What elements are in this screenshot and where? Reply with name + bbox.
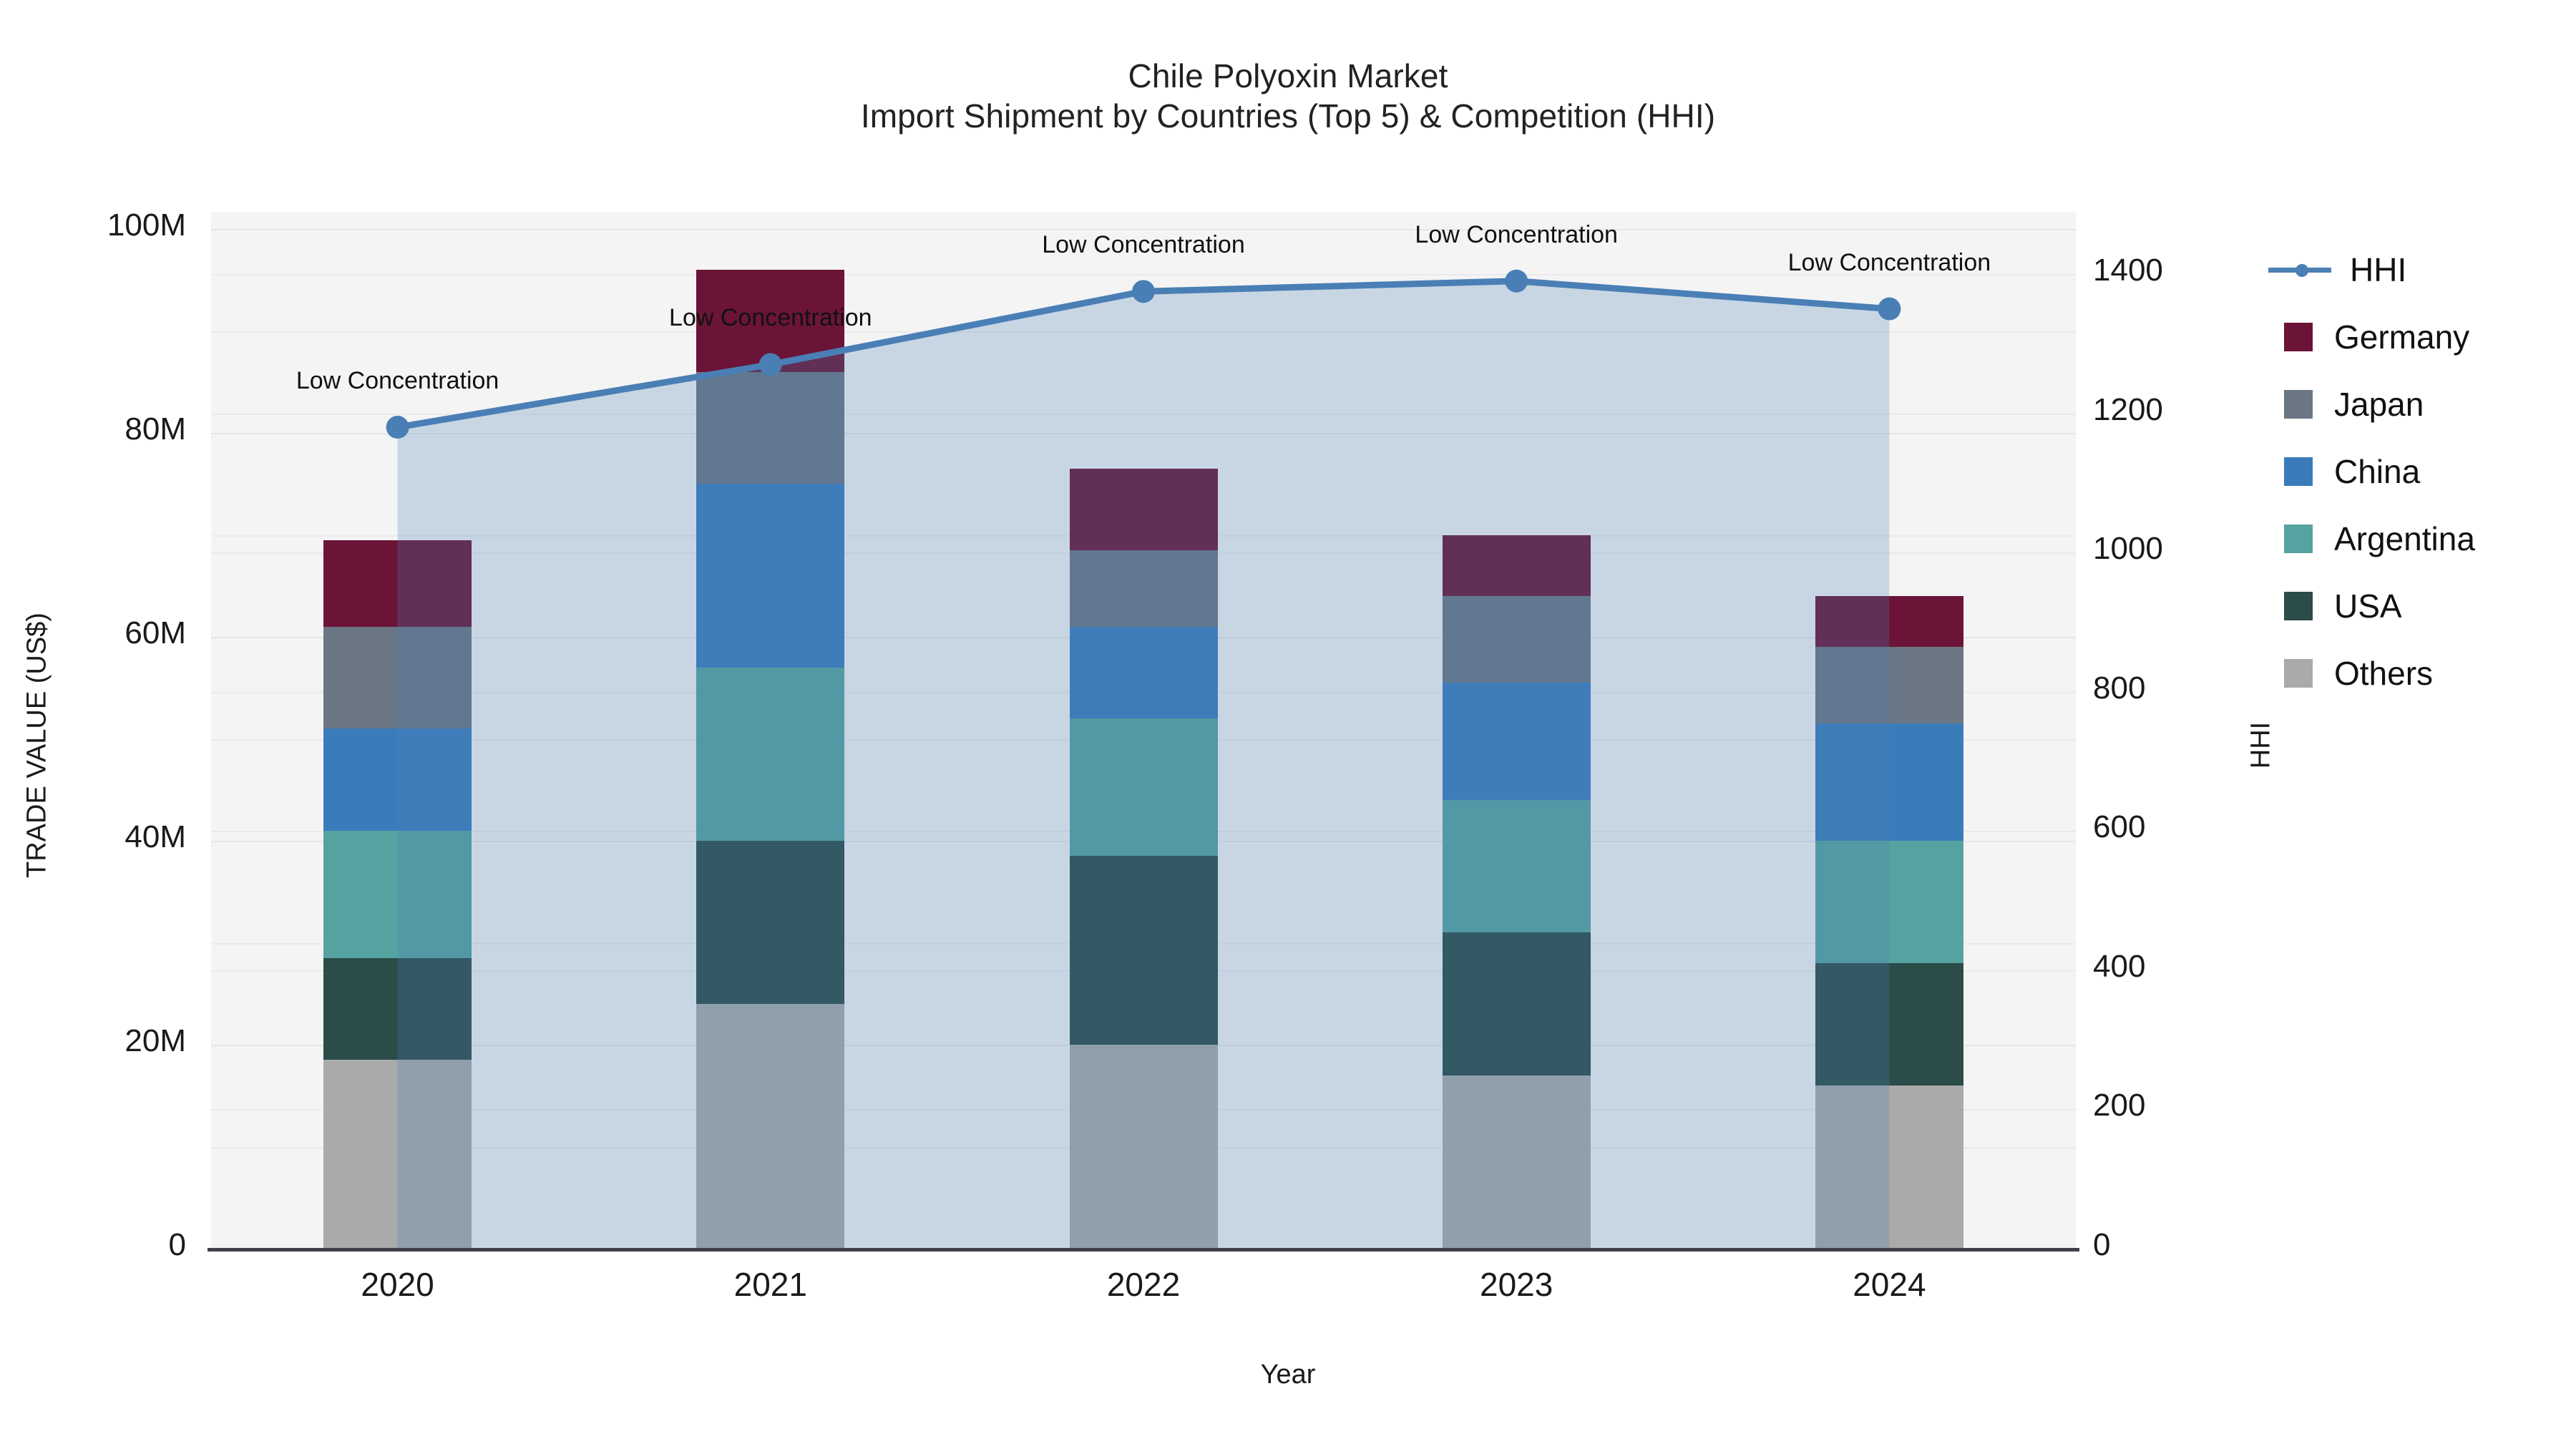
annotation-low-concentration-2023: Low Concentration — [1415, 221, 1618, 249]
y-axis-left-title: TRADE VALUE (US$) — [22, 545, 53, 946]
bar-segment-china-2024[interactable] — [1815, 723, 1963, 841]
bar-segment-japan-2022[interactable] — [1070, 550, 1218, 627]
x-tick-2022: 2022 — [1036, 1265, 1251, 1304]
legend-item-usa[interactable]: USA — [2268, 572, 2569, 640]
chart-title: Chile Polyoxin Market Import Shipment by… — [0, 56, 2576, 136]
legend-label-usa: USA — [2334, 587, 2402, 625]
bar-segment-others-2024[interactable] — [1815, 1085, 1963, 1249]
y-tick-right-0: 0 — [2093, 1227, 2279, 1263]
bar-segment-china-2023[interactable] — [1443, 683, 1591, 800]
legend-line-icon — [2268, 255, 2331, 284]
bar-segment-japan-2020[interactable] — [323, 627, 472, 729]
bar-segment-others-2023[interactable] — [1443, 1075, 1591, 1249]
y-tick-right-1200: 1200 — [2093, 392, 2279, 428]
bar-segment-argentina-2024[interactable] — [1815, 841, 1963, 963]
bar-segment-china-2021[interactable] — [696, 484, 844, 668]
y-tick-right-400: 400 — [2093, 949, 2279, 985]
legend-item-germany[interactable]: Germany — [2268, 303, 2569, 371]
chart-root: Chile Polyoxin Market Import Shipment by… — [0, 0, 2576, 1449]
bar-segment-germany-2022[interactable] — [1070, 469, 1218, 550]
y-tick-left-20M: 20M — [29, 1023, 186, 1059]
bar-segment-others-2022[interactable] — [1070, 1045, 1218, 1249]
bar-segment-china-2022[interactable] — [1070, 627, 1218, 718]
bar-segment-argentina-2020[interactable] — [323, 831, 472, 958]
y-tick-left-100M: 100M — [29, 208, 186, 243]
y-tick-left-0: 0 — [29, 1227, 186, 1263]
legend-label-argentina: Argentina — [2334, 519, 2475, 558]
y-tick-right-1000: 1000 — [2093, 531, 2279, 567]
legend-item-hhi[interactable]: HHI — [2268, 236, 2569, 303]
legend-swatch-usa — [2284, 592, 2313, 620]
bar-segment-others-2021[interactable] — [696, 1004, 844, 1249]
legend-label-germany: Germany — [2334, 318, 2469, 356]
bar-segment-argentina-2022[interactable] — [1070, 718, 1218, 856]
legend-item-japan[interactable]: Japan — [2268, 371, 2569, 438]
y-tick-right-200: 200 — [2093, 1088, 2279, 1123]
x-tick-2020: 2020 — [291, 1265, 505, 1304]
annotation-low-concentration-2024: Low Concentration — [1788, 249, 1991, 277]
annotation-low-concentration-2021: Low Concentration — [669, 304, 872, 332]
bar-segment-japan-2023[interactable] — [1443, 596, 1591, 683]
legend-swatch-others — [2284, 659, 2313, 688]
x-tick-2021: 2021 — [663, 1265, 878, 1304]
bar-segment-others-2020[interactable] — [323, 1060, 472, 1249]
legend-label-japan: Japan — [2334, 385, 2424, 424]
x-axis-line — [208, 1248, 2079, 1252]
annotation-low-concentration-2022: Low Concentration — [1042, 231, 1245, 259]
bar-segment-japan-2024[interactable] — [1815, 647, 1963, 723]
legend-swatch-argentina — [2284, 525, 2313, 553]
legend-item-china[interactable]: China — [2268, 438, 2569, 505]
bar-segment-japan-2021[interactable] — [696, 372, 844, 484]
bar-segment-usa-2020[interactable] — [323, 958, 472, 1060]
legend-label-china: China — [2334, 452, 2420, 491]
bar-segment-china-2020[interactable] — [323, 728, 472, 831]
bar-segment-germany-2023[interactable] — [1443, 535, 1591, 597]
grid-line — [211, 433, 2076, 434]
bar-segment-usa-2022[interactable] — [1070, 856, 1218, 1045]
grid-line-secondary — [211, 414, 2076, 415]
y-tick-left-80M: 80M — [29, 411, 186, 447]
title-line-2: Import Shipment by Countries (Top 5) & C… — [0, 96, 2576, 136]
title-line-1: Chile Polyoxin Market — [0, 56, 2576, 96]
grid-line — [211, 229, 2076, 230]
legend: HHIGermanyJapanChinaArgentinaUSAOthers — [2268, 236, 2569, 707]
grid-line — [211, 331, 2076, 333]
legend-item-argentina[interactable]: Argentina — [2268, 505, 2569, 572]
legend-item-others[interactable]: Others — [2268, 640, 2569, 707]
legend-label-others: Others — [2334, 654, 2433, 693]
bar-segment-argentina-2021[interactable] — [696, 668, 844, 841]
legend-swatch-china — [2284, 457, 2313, 486]
bar-segment-usa-2024[interactable] — [1815, 963, 1963, 1085]
bar-segment-usa-2023[interactable] — [1443, 932, 1591, 1075]
x-tick-2023: 2023 — [1409, 1265, 1624, 1304]
x-tick-2024: 2024 — [1782, 1265, 1996, 1304]
bar-segment-germany-2020[interactable] — [323, 540, 472, 627]
legend-label-hhi: HHI — [2350, 250, 2406, 289]
y-tick-right-1400: 1400 — [2093, 253, 2279, 288]
bar-segment-argentina-2023[interactable] — [1443, 800, 1591, 932]
bar-segment-germany-2024[interactable] — [1815, 596, 1963, 647]
legend-swatch-germany — [2284, 323, 2313, 351]
legend-swatch-japan — [2284, 390, 2313, 419]
annotation-low-concentration-2020: Low Concentration — [296, 367, 499, 395]
x-axis-title: Year — [0, 1360, 2576, 1390]
bar-segment-usa-2021[interactable] — [696, 841, 844, 1004]
